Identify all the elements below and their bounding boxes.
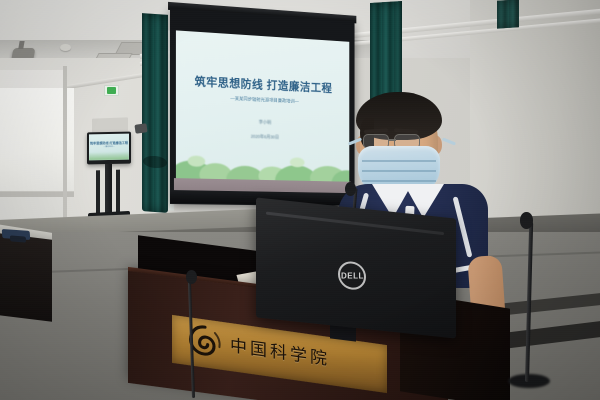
lotus-decoration: [176, 134, 349, 183]
eyeglasses-bridge: [388, 139, 396, 141]
curtain-left: [142, 13, 168, 213]
tv-top-shelf: [92, 117, 128, 132]
conference-room-photo: 筑牢思想防线 打造廉洁工程 —某某同步辐射光源项目廉政培训— 李小明 2020年…: [0, 0, 600, 400]
microphone-icon: [345, 182, 356, 196]
curtain-far-right: [497, 0, 519, 29]
wall-speaker: [134, 123, 147, 134]
presentation-slide: 筑牢思想防线 打造廉洁工程 —某某同步辐射光源项目廉政培训— 李小明 2020年…: [176, 30, 349, 183]
tv-lotus-decoration: [89, 152, 129, 161]
microphone-icon: [186, 270, 197, 284]
exit-icon: [107, 87, 116, 94]
tv-slide-subtitle: —廉政培训—: [89, 145, 129, 149]
tv-screen: 筑牢思想防线 打造廉洁工程 —廉政培训—: [89, 134, 129, 161]
projection-screen: 筑牢思想防线 打造廉洁工程 —某某同步辐射光源项目廉政培训— 李小明 2020年…: [170, 8, 355, 206]
dell-logo-text: DELL: [341, 271, 364, 280]
emergency-exit-sign: [104, 85, 119, 96]
slide-presenter: 李小明: [176, 116, 349, 129]
ceiling-light: [60, 44, 71, 51]
dell-monitor: DELL: [256, 197, 456, 338]
plaque-text: 中国科学院: [230, 331, 330, 370]
slide-title: 筑牢思想防线 打造廉洁工程: [176, 72, 349, 96]
wall-corner: [63, 66, 67, 226]
microphone-icon: [520, 212, 533, 229]
secondary-tv-display: 筑牢思想防线 打造廉洁工程 —廉政培训—: [87, 132, 131, 165]
dell-logo-icon: DELL: [338, 260, 366, 291]
tv-stand-pole: [105, 164, 112, 216]
side-table: [0, 232, 52, 322]
mask-strap-right: [442, 137, 456, 145]
monitor-vent-groove: [266, 212, 444, 236]
